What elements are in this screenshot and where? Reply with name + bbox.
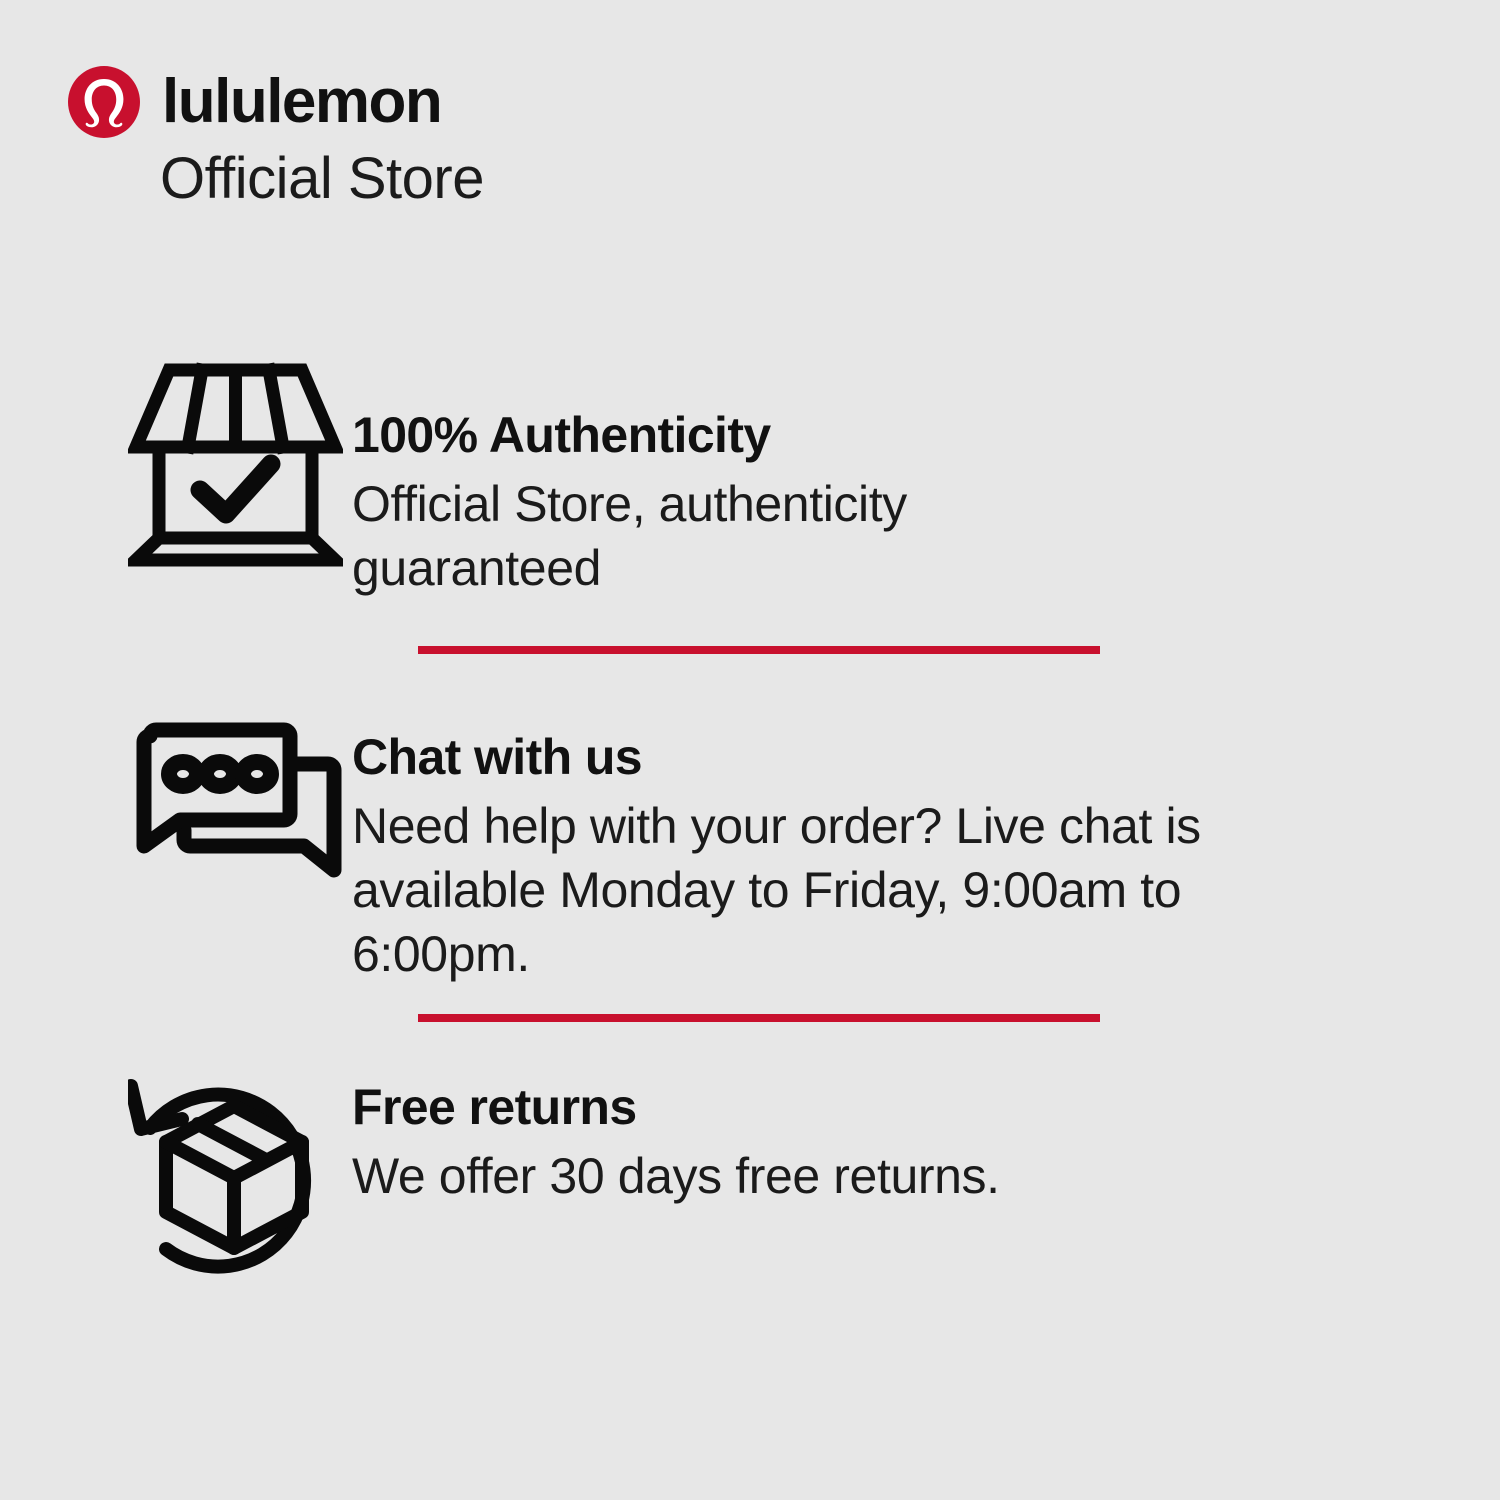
lululemon-omega-logo-icon	[68, 66, 140, 138]
feature-description: We offer 30 days free returns.	[352, 1144, 1252, 1208]
section-divider	[418, 1014, 1100, 1022]
feature-list: 100% Authenticity Official Store, authen…	[0, 362, 1500, 1274]
feature-text-block: 100% Authenticity Official Store, authen…	[352, 362, 1500, 600]
promo-banner: lululemon Official Store	[0, 0, 1500, 1500]
brand-header: lululemon Official Store	[68, 62, 968, 214]
check-icon	[200, 464, 271, 514]
feature-title: Chat with us	[352, 726, 1380, 788]
feature-text-block: Chat with us Need help with your order? …	[352, 718, 1500, 986]
storefront-check-icon	[128, 362, 343, 567]
box-return-arrow-icon	[128, 1066, 340, 1274]
brand-subtitle: Official Store	[160, 144, 968, 214]
feature-text-block: Free returns We offer 30 days free retur…	[352, 1066, 1500, 1208]
feature-item-authenticity: 100% Authenticity Official Store, authen…	[0, 362, 1500, 600]
brand-name: lululemon	[162, 66, 441, 138]
chat-bubbles-ellipsis-icon	[128, 718, 346, 888]
feature-description: Need help with your order? Live chat is …	[352, 794, 1312, 986]
package-box-icon	[166, 1106, 302, 1248]
feature-item-returns: Free returns We offer 30 days free retur…	[0, 1066, 1500, 1274]
divider-wrap	[0, 1014, 1500, 1022]
ellipsis-dots-icon	[169, 762, 271, 786]
feature-icon-slot	[128, 718, 352, 888]
feature-icon-slot	[128, 362, 352, 567]
feature-item-chat: Chat with us Need help with your order? …	[0, 718, 1500, 986]
feature-icon-slot	[128, 1066, 352, 1274]
feature-title: 100% Authenticity	[352, 404, 1380, 466]
feature-title: Free returns	[352, 1076, 1380, 1138]
divider-wrap	[0, 646, 1500, 654]
section-divider	[418, 646, 1100, 654]
feature-description: Official Store, authenticity guaranteed	[352, 472, 1082, 600]
brand-lockup: lululemon	[68, 62, 968, 142]
